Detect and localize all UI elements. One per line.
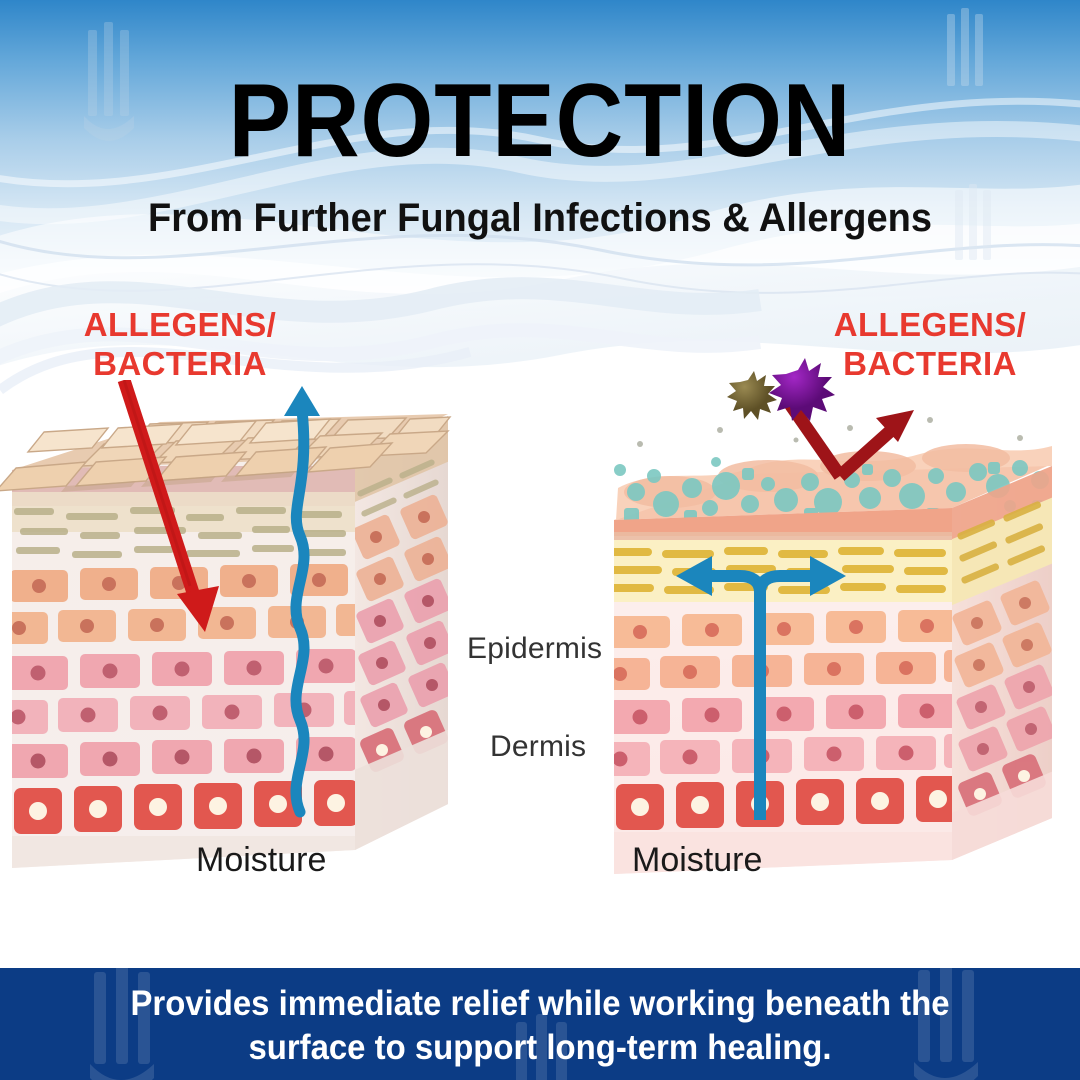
label-dermis: Dermis — [490, 730, 586, 764]
infographic-canvas: PROTECTION From Further Fungal Infection… — [0, 0, 1080, 1080]
footer-banner: Provides immediate relief while working … — [0, 968, 1080, 1080]
skin-block-unprotected — [0, 380, 470, 900]
moisture-label-left: Moisture — [196, 841, 326, 880]
page-subtitle: From Further Fungal Infections & Allerge… — [27, 196, 1053, 241]
page-title: PROTECTION — [54, 68, 1026, 174]
allergen-label-left: ALLEGENS/ BACTERIA — [30, 306, 330, 384]
label-epidermis: Epidermis — [467, 632, 602, 666]
moisture-label-right: Moisture — [632, 841, 762, 880]
allergen-label-right: ALLEGENS/ BACTERIA — [790, 306, 1070, 384]
skin-block-protected — [600, 380, 1070, 900]
germ-brown-icon — [727, 371, 777, 420]
footer-text: Provides immediate relief while working … — [32, 982, 1047, 1070]
